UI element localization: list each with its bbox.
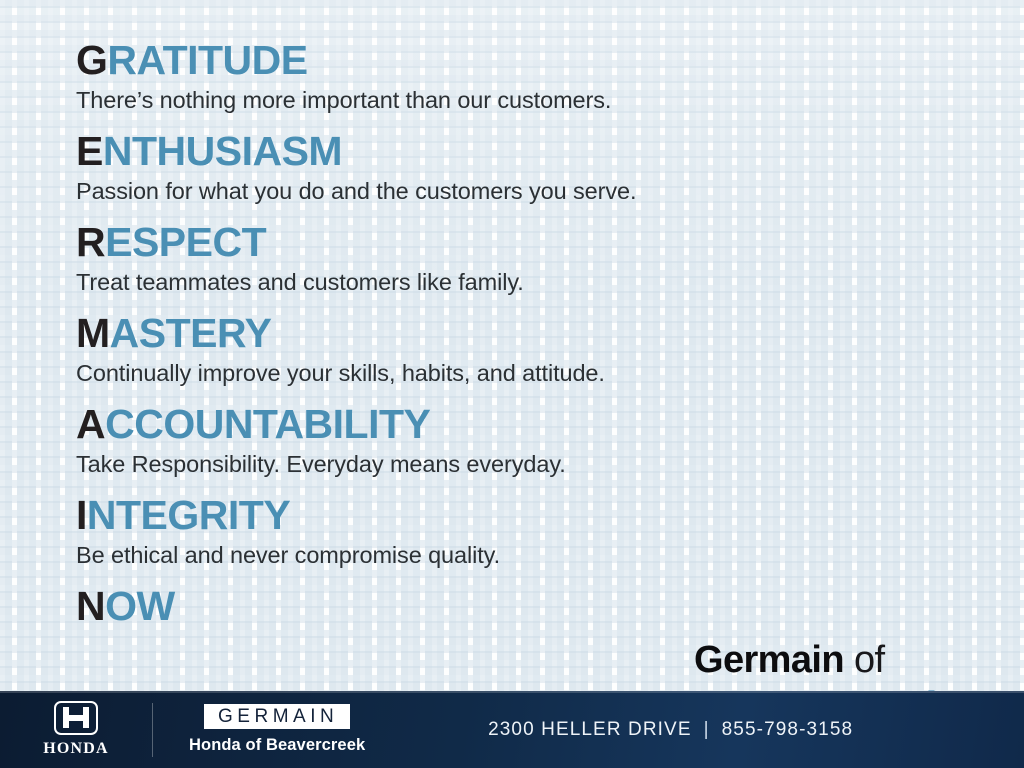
value-title-accountability: ACCOUNTABILITY: [76, 400, 956, 448]
value-initial: N: [76, 583, 105, 629]
poster-canvas: GRATITUDE There’s nothing more important…: [0, 0, 1024, 768]
value-description-respect: Treat teammates and customers like famil…: [76, 265, 956, 299]
footer-bar: HONDA GERMAIN Honda of Beavercreek 2300 …: [0, 691, 1024, 768]
value-remainder: CCOUNTABILITY: [105, 401, 430, 447]
wordmark-bold: Germain: [694, 639, 844, 681]
value-remainder: RATITUDE: [107, 37, 307, 83]
value-block-enthusiasm: ENTHUSIASM Passion for what you do and t…: [76, 127, 956, 208]
value-block-respect: RESPECT Treat teammates and customers li…: [76, 218, 956, 299]
value-remainder: ESPECT: [105, 219, 266, 265]
germain-logo-text: GERMAIN: [218, 706, 338, 727]
value-title-integrity: INTEGRITY: [76, 491, 956, 539]
value-title-respect: RESPECT: [76, 218, 956, 266]
value-block-integrity: INTEGRITY Be ethical and never compromis…: [76, 491, 956, 572]
value-description-integrity: Be ethical and never compromise quality.: [76, 538, 956, 572]
value-title-enthusiasm: ENTHUSIASM: [76, 127, 956, 175]
value-remainder: OW: [105, 583, 175, 629]
footer-phone[interactable]: 855-798-3158: [722, 719, 854, 740]
germain-dealer-subtitle: Honda of Beavercreek: [189, 736, 365, 755]
value-block-gratitude: GRATITUDE There’s nothing more important…: [76, 36, 956, 117]
honda-logo: HONDA: [0, 701, 152, 758]
value-initial: G: [76, 37, 107, 83]
footer-separator: |: [692, 719, 722, 741]
value-block-now: NOW: [76, 582, 956, 630]
value-initial: A: [76, 401, 105, 447]
value-title-mastery: MASTERY: [76, 309, 956, 357]
values-list: GRATITUDE There’s nothing more important…: [76, 36, 956, 640]
value-block-accountability: ACCOUNTABILITY Take Responsibility. Ever…: [76, 400, 956, 481]
value-remainder: NTHUSIASM: [103, 128, 342, 174]
value-description-accountability: Take Responsibility. Everyday means ever…: [76, 447, 956, 481]
germain-dealer-logo: GERMAIN Honda of Beavercreek: [153, 704, 365, 755]
honda-wordmark: HONDA: [43, 740, 109, 758]
value-description-gratitude: There’s nothing more important than our …: [76, 83, 956, 117]
value-block-mastery: MASTERY Continually improve your skills,…: [76, 309, 956, 390]
value-description-mastery: Continually improve your skills, habits,…: [76, 356, 956, 390]
value-initial: M: [76, 310, 110, 356]
value-initial: I: [76, 492, 87, 538]
honda-h-emblem-icon: [54, 701, 98, 735]
value-initial: E: [76, 128, 103, 174]
value-initial: R: [76, 219, 105, 265]
value-remainder: NTEGRITY: [87, 492, 290, 538]
value-title-gratitude: GRATITUDE: [76, 36, 956, 84]
value-remainder: ASTERY: [110, 310, 272, 356]
value-description-enthusiasm: Passion for what you do and the customer…: [76, 174, 956, 208]
wordmark-light: of: [844, 639, 884, 681]
value-title-now: NOW: [76, 582, 956, 630]
germain-logo-box: GERMAIN: [204, 704, 350, 729]
honda-h-crossbar: [63, 715, 89, 721]
footer-address: 2300 HELLER DRIVE: [488, 719, 692, 740]
footer-contact-info: 2300 HELLER DRIVE|855-798-3158: [365, 719, 1024, 741]
